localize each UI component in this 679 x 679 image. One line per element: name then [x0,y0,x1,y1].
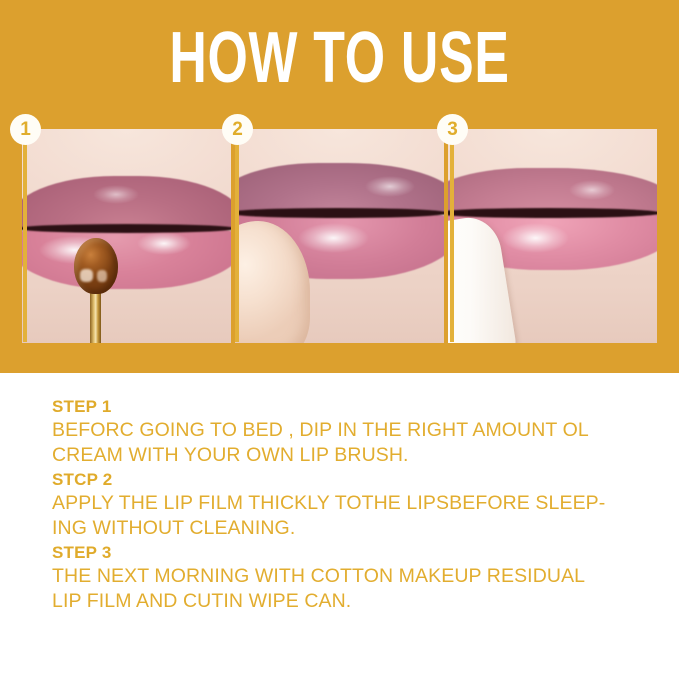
mouth-line-3 [448,208,657,218]
applicator-head-icon [74,238,118,294]
step-badge-2: 2 [222,114,253,145]
step-2-body: APPLY THE LIP FILM THICKLY TOTHE LIPSBEF… [52,491,652,541]
badge-stem-3 [450,140,454,342]
step-3-heading: STEP 3 [52,542,652,564]
step-2-heading: STCP 2 [52,469,652,491]
photo-step-3 [448,129,657,343]
instruction-step-2: STCP 2 APPLY THE LIP FILM THICKLY TOTHE … [52,469,652,541]
mouth-line-1 [22,224,231,233]
photo-strip [22,129,657,343]
page-title: HOW TO USE [95,22,584,94]
badge-stem-2 [235,140,239,342]
step-1-body: BEFORC GOING TO BED , DIP IN THE RIGHT A… [52,418,652,468]
step-badge-3: 3 [437,114,468,145]
lower-lip-1 [22,225,231,289]
applicator-handle-icon [90,287,101,343]
step-1-heading: STEP 1 [52,396,652,418]
badge-stem-1 [23,140,27,342]
instruction-step-1: STEP 1 BEFORC GOING TO BED , DIP IN THE … [52,396,652,468]
step-3-body: THE NEXT MORNING WITH COTTON MAKEUP RESI… [52,564,652,614]
how-to-use-infographic: HOW TO USE [0,0,679,679]
photo-step-2 [235,129,444,343]
instruction-step-3: STEP 3 THE NEXT MORNING WITH COTTON MAKE… [52,542,652,614]
photo-step-1 [22,129,231,343]
mouth-line-2 [235,208,444,218]
instructions-list: STEP 1 BEFORC GOING TO BED , DIP IN THE … [52,396,652,615]
step-badge-1: 1 [10,114,41,145]
